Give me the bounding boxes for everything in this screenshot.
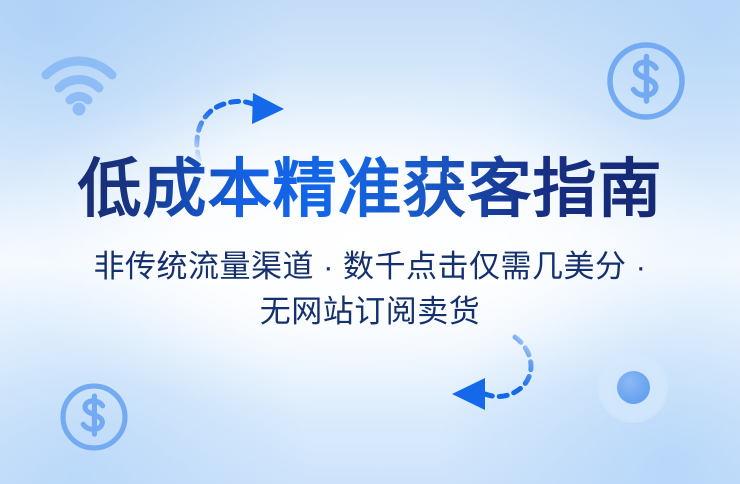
page-subtitle: 非传统流量渠道 · 数千点击仅需几美分 · 无网站订阅卖货 [0,244,740,334]
page-subtitle-line-2: 无网站订阅卖货 [0,289,740,334]
page-title: 低成本精准获客指南 [0,150,740,228]
page-subtitle-line-1: 非传统流量渠道 · 数千点击仅需几美分 · [0,244,740,289]
text-block: 低成本精准获客指南 非传统流量渠道 · 数千点击仅需几美分 · 无网站订阅卖货 [0,150,740,334]
promo-poster: 低成本精准获客指南 非传统流量渠道 · 数千点击仅需几美分 · 无网站订阅卖货 [0,0,740,484]
